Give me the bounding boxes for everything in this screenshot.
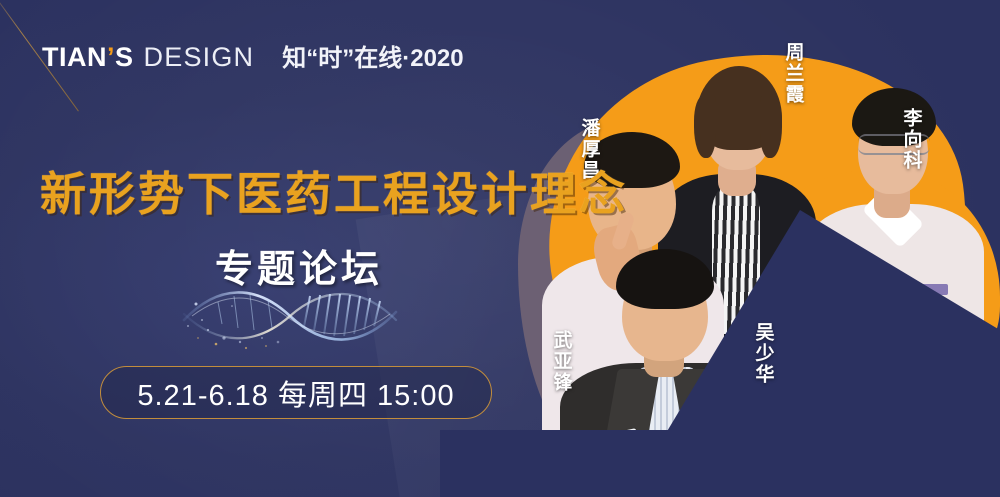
logo-chinese-text: 知“时”在线·2020 xyxy=(282,38,463,73)
navy-base-overlay xyxy=(440,430,1000,497)
brand-logo: TIAN’S DESIGN 知“时”在线·2020 xyxy=(42,38,464,73)
logo-apostrophe: ’ xyxy=(107,42,115,72)
logo-s: S xyxy=(115,42,134,72)
webinar-promo-banner: 潘厚昌 周兰霞 李向科 武亚锋 吴少华 TIAN’S DESIGN 知“时”在线… xyxy=(0,0,1000,497)
page-title: 新形势下医药工程设计理念 xyxy=(40,158,628,224)
logo-tian: TIAN xyxy=(42,42,107,72)
speaker-name-2: 周兰霞 xyxy=(782,42,803,105)
speaker-name-5: 吴少华 xyxy=(752,322,773,385)
speaker-name-4: 武亚锋 xyxy=(550,330,571,393)
logo-design-text: DESIGN xyxy=(144,42,255,73)
schedule-badge: 5.21-6.18 每周四 15:00 xyxy=(100,366,492,419)
speaker-2-hair-side-r xyxy=(760,96,782,158)
schedule-text: 5.21-6.18 每周四 15:00 xyxy=(137,372,454,414)
speaker-name-3: 李向科 xyxy=(900,108,921,171)
speaker-collage: 潘厚昌 周兰霞 李向科 武亚锋 吴少华 xyxy=(500,0,1000,497)
page-subtitle: 专题论坛 xyxy=(215,238,383,293)
logo-tians-text: TIAN’S xyxy=(42,42,134,73)
speaker-4-hair xyxy=(616,249,714,309)
